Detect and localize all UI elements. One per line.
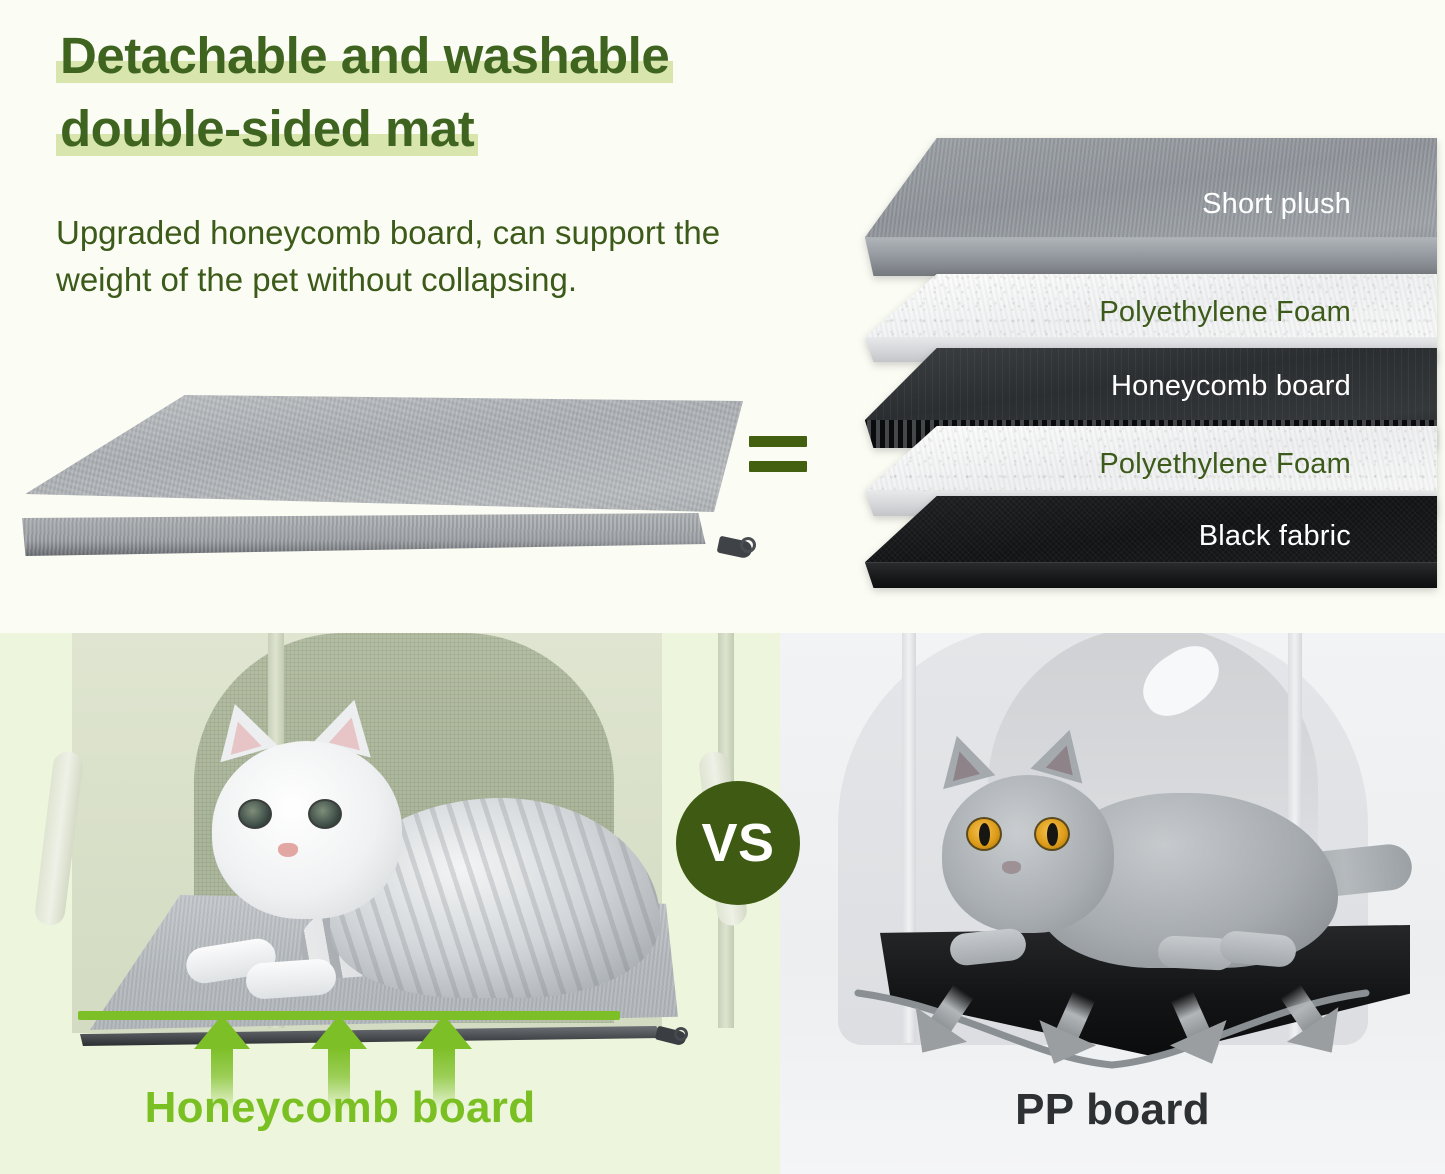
layer-short-plush: Short plush [862, 138, 1437, 276]
cat-pupil-left [979, 823, 990, 846]
equals-sign-icon [749, 436, 807, 476]
arrow-head [194, 1015, 250, 1049]
cat-paw-front-left [949, 927, 1028, 967]
cat-head [942, 775, 1114, 933]
page-title-line-1-text: Detachable and washable [60, 27, 669, 84]
comparison-panel-pp: PP board [780, 633, 1445, 1174]
cat-nose [1002, 861, 1021, 874]
gray-british-shorthair-cat [890, 721, 1400, 981]
plush-mat-photo [18, 395, 758, 585]
caption-pp-board: PP board [780, 1085, 1445, 1135]
cat-paw-front-right [245, 958, 337, 1000]
layer-stack-diagram: Short plush Polyethylene Foam Honeycomb … [862, 138, 1437, 578]
equals-bar-top [749, 436, 807, 447]
layer-label-short-plush: Short plush [1202, 188, 1351, 221]
mat-edge-rim [80, 1026, 668, 1046]
layer-edge [862, 237, 1437, 276]
cat-eye-right [308, 799, 342, 829]
equals-bar-bottom [749, 461, 807, 472]
arrow-head [416, 1015, 472, 1049]
mat-front-edge [22, 513, 734, 563]
page-title-line-2: double-sided mat [56, 103, 478, 160]
layer-black-fabric: Black fabric [862, 496, 1437, 588]
cat-pupil-right [1047, 823, 1058, 846]
layer-label-polyethylene-foam-bottom: Polyethylene Foam [1099, 448, 1351, 481]
zipper-pull-icon [650, 1026, 696, 1054]
caption-honeycomb-board: Honeycomb board [0, 1083, 680, 1133]
zipper-pull-icon [708, 535, 762, 569]
arrow-head [311, 1015, 367, 1049]
layer-label-polyethylene-foam-top: Polyethylene Foam [1099, 296, 1351, 329]
cat-head [212, 741, 402, 919]
silver-tabby-cat [150, 693, 670, 1023]
vs-badge: VS [676, 781, 800, 905]
comparison-panel-honeycomb: Honeycomb board [0, 633, 780, 1174]
cat-nose [278, 843, 298, 857]
layer-label-black-fabric: Black fabric [1199, 520, 1351, 553]
layer-label-honeycomb-board: Honeycomb board [1111, 370, 1351, 403]
heading-block: Detachable and washable double-sided mat [56, 30, 856, 176]
layer-edge [862, 562, 1437, 588]
page-title-line-2-text: double-sided mat [60, 100, 474, 157]
subtitle-text: Upgraded honeycomb board, can support th… [56, 210, 816, 304]
top-section: Detachable and washable double-sided mat… [0, 0, 1445, 633]
cat-eye-left [238, 799, 272, 829]
page-title-line-1: Detachable and washable [56, 30, 673, 87]
comparison-section: Honeycomb board [0, 633, 1445, 1174]
